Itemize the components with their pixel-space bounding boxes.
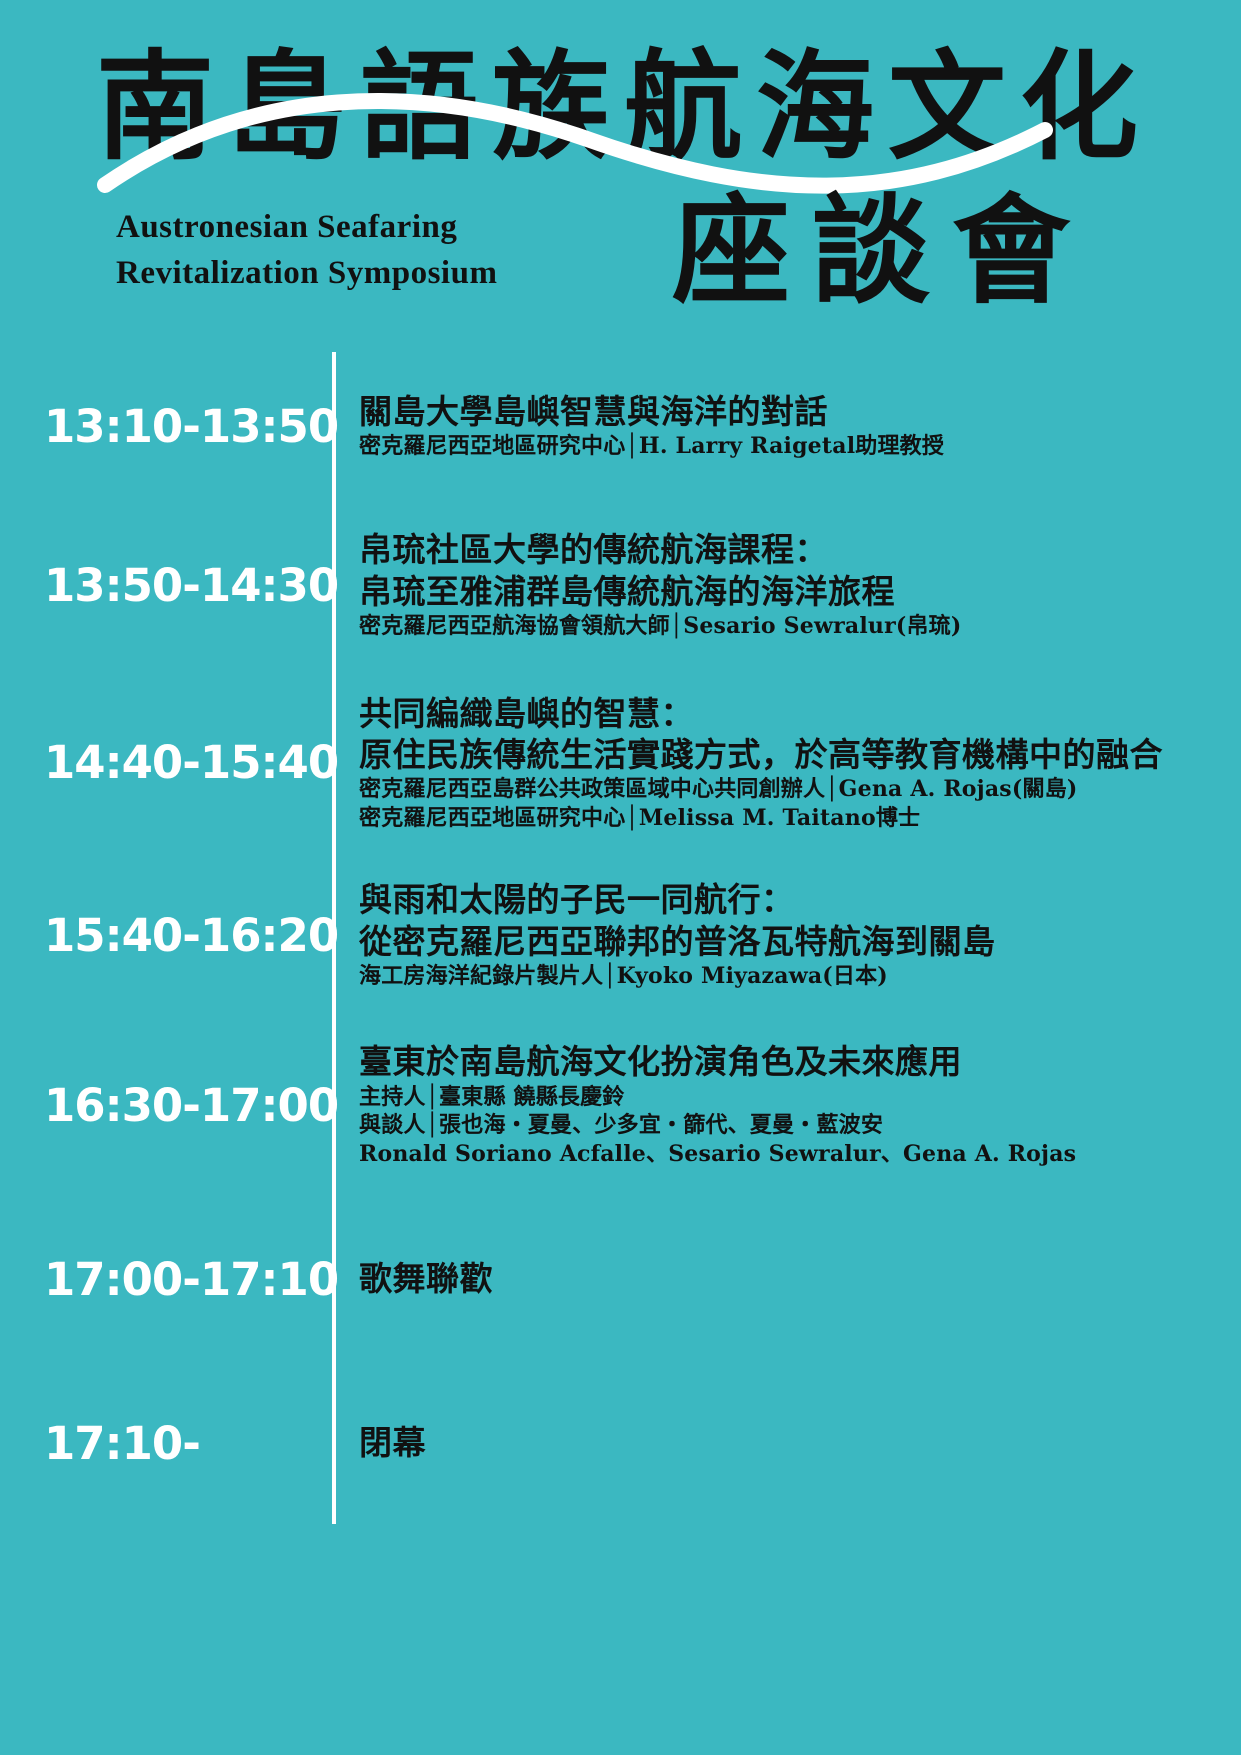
session-content: 與雨和太陽的子民一同航行：從密克羅尼西亞聯邦的普洛瓦特航海到關島海工房海洋紀錄片… bbox=[332, 879, 1241, 990]
session-speaker: 密克羅尼西亞島群公共政策區域中心共同創辦人│Gena A. Rojas(關島) bbox=[359, 775, 1241, 804]
subtitle-line-1: Austronesian Seafaring bbox=[116, 205, 497, 251]
schedule-row: 17:00-17:10歌舞聯歡 bbox=[0, 1195, 1241, 1363]
session-title: 閉幕 bbox=[359, 1422, 1241, 1463]
poster-header: 南島語族航海文化 座談會 Austronesian Seafaring Revi… bbox=[0, 0, 1241, 330]
session-content: 共同編織島嶼的智慧：原住民族傳統生活實踐方式，於高等教育機構中的融合密克羅尼西亞… bbox=[332, 693, 1241, 833]
session-time: 15:40-16:20 bbox=[0, 909, 332, 962]
session-speaker: 密克羅尼西亞地區研究中心│Melissa M. Taitano博士 bbox=[359, 804, 1241, 833]
session-title: 從密克羅尼西亞聯邦的普洛瓦特航海到關島 bbox=[359, 921, 1241, 962]
session-speaker: 主持人│臺東縣 饒縣長慶鈴 bbox=[359, 1083, 1241, 1112]
session-title: 原住民族傳統生活實踐方式，於高等教育機構中的融合 bbox=[359, 734, 1241, 775]
session-title: 關島大學島嶼智慧與海洋的對話 bbox=[359, 391, 1241, 432]
session-time: 16:30-17:00 bbox=[0, 1079, 332, 1132]
session-speaker: Ronald Soriano Acfalle、Sesario Sewralur、… bbox=[359, 1140, 1241, 1169]
schedule-row: 14:40-15:40共同編織島嶼的智慧：原住民族傳統生活實踐方式，於高等教育機… bbox=[0, 670, 1241, 855]
schedule-rows: 13:10-13:50關島大學島嶼智慧與海洋的對話密克羅尼西亞地區研究中心│H.… bbox=[0, 352, 1241, 1523]
session-speaker: 與談人│張也海‧夏曼、少多宜‧篩代、夏曼‧藍波安 bbox=[359, 1111, 1241, 1140]
session-title: 與雨和太陽的子民一同航行： bbox=[359, 879, 1241, 920]
session-content: 臺東於南島航海文化扮演角色及未來應用主持人│臺東縣 饒縣長慶鈴與談人│張也海‧夏… bbox=[332, 1041, 1241, 1168]
session-speaker: 密克羅尼西亞航海協會領航大師│Sesario Sewralur(帛琉) bbox=[359, 612, 1241, 641]
session-content: 關島大學島嶼智慧與海洋的對話密克羅尼西亞地區研究中心│H. Larry Raig… bbox=[332, 391, 1241, 461]
session-title: 歌舞聯歡 bbox=[359, 1258, 1241, 1299]
session-time: 14:40-15:40 bbox=[0, 736, 332, 789]
session-title: 帛琉至雅浦群島傳統航海的海洋旅程 bbox=[359, 571, 1241, 612]
poster-title-chinese-line2: 座談會 bbox=[672, 192, 1092, 310]
poster-subtitle-english: Austronesian Seafaring Revitalization Sy… bbox=[116, 205, 497, 296]
session-content: 閉幕 bbox=[332, 1422, 1241, 1463]
schedule-row: 13:50-14:30帛琉社區大學的傳統航海課程：帛琉至雅浦群島傳統航海的海洋旅… bbox=[0, 500, 1241, 670]
schedule-row: 15:40-16:20與雨和太陽的子民一同航行：從密克羅尼西亞聯邦的普洛瓦特航海… bbox=[0, 855, 1241, 1015]
session-time: 17:10- bbox=[0, 1417, 332, 1470]
subtitle-line-2: Revitalization Symposium bbox=[116, 251, 497, 297]
session-speaker: 密克羅尼西亞地區研究中心│H. Larry Raigetal助理教授 bbox=[359, 432, 1241, 461]
schedule-table: 13:10-13:50關島大學島嶼智慧與海洋的對話密克羅尼西亞地區研究中心│H.… bbox=[0, 352, 1241, 1523]
poster-title-chinese-line1: 南島語族航海文化 bbox=[96, 48, 1152, 166]
session-speaker: 海工房海洋紀錄片製片人│Kyoko Miyazawa(日本) bbox=[359, 962, 1241, 991]
session-title: 臺東於南島航海文化扮演角色及未來應用 bbox=[359, 1041, 1241, 1082]
session-time: 13:10-13:50 bbox=[0, 400, 332, 453]
schedule-row: 13:10-13:50關島大學島嶼智慧與海洋的對話密克羅尼西亞地區研究中心│H.… bbox=[0, 352, 1241, 500]
schedule-row: 16:30-17:00臺東於南島航海文化扮演角色及未來應用主持人│臺東縣 饒縣長… bbox=[0, 1015, 1241, 1195]
session-title: 帛琉社區大學的傳統航海課程： bbox=[359, 529, 1241, 570]
session-time: 13:50-14:30 bbox=[0, 559, 332, 612]
session-title: 共同編織島嶼的智慧： bbox=[359, 693, 1241, 734]
session-content: 帛琉社區大學的傳統航海課程：帛琉至雅浦群島傳統航海的海洋旅程密克羅尼西亞航海協會… bbox=[332, 529, 1241, 640]
schedule-row: 17:10-閉幕 bbox=[0, 1363, 1241, 1523]
session-time: 17:00-17:10 bbox=[0, 1253, 332, 1306]
session-content: 歌舞聯歡 bbox=[332, 1258, 1241, 1299]
